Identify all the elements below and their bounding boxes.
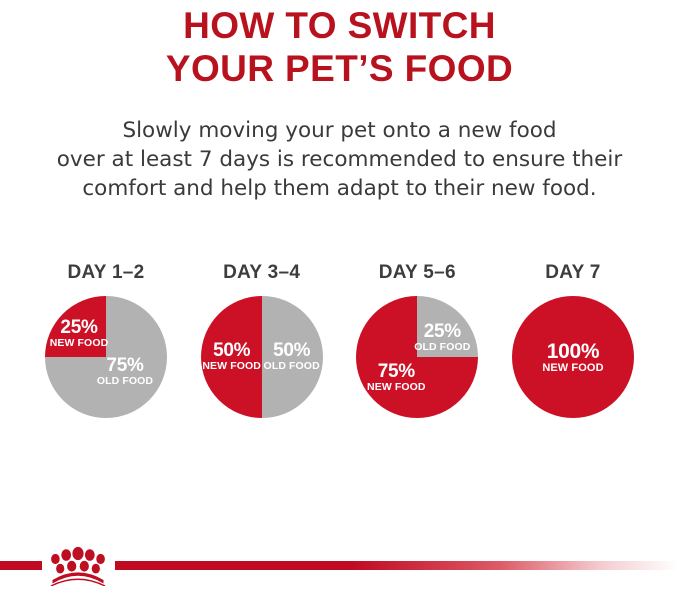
- chart-column-3: DAY 5–625%OLD FOOD75%NEW FOOD: [347, 262, 487, 432]
- intro-line-1: Slowly moving your pet onto a new food: [0, 116, 679, 145]
- page-title-line-2: YOUR PET’S FOOD: [0, 47, 679, 90]
- page-title-line-1: HOW TO SWITCH: [0, 4, 679, 47]
- pie-slice-new-food: [512, 296, 634, 418]
- pie-slice-old-food: [262, 296, 323, 418]
- chart-column-1: DAY 1–225%NEW FOOD75%OLD FOOD: [36, 262, 176, 432]
- pie-slice-new-food: [45, 296, 106, 357]
- chart-column-4: DAY 7100%NEW FOOD: [503, 262, 643, 432]
- footer: [0, 540, 679, 594]
- pie-slice-old-food: [417, 296, 478, 357]
- day-label: DAY 1–2: [67, 262, 144, 284]
- day-label: DAY 5–6: [379, 262, 456, 284]
- chart-column-2: DAY 3–450%NEW FOOD50%OLD FOOD: [192, 262, 332, 432]
- page-title: HOW TO SWITCH YOUR PET’S FOOD: [0, 4, 679, 90]
- day-label: DAY 7: [545, 262, 600, 284]
- day-label: DAY 3–4: [223, 262, 300, 284]
- royal-canin-crown-logo: [44, 542, 112, 586]
- transition-schedule-charts: DAY 1–225%NEW FOOD75%OLD FOODDAY 3–450%N…: [0, 262, 679, 432]
- intro-line-2: over at least 7 days is recommended to e…: [0, 145, 679, 174]
- pie-chart: 25%NEW FOOD75%OLD FOOD: [43, 294, 169, 420]
- pie-chart: 100%NEW FOOD: [510, 294, 636, 420]
- footer-rule-right: [115, 561, 679, 570]
- intro-line-3: comfort and help them adapt to their new…: [0, 174, 679, 203]
- intro-paragraph: Slowly moving your pet onto a new food o…: [0, 116, 679, 203]
- pie-slice-new-food: [201, 296, 262, 418]
- footer-rule-left: [0, 561, 42, 570]
- pie-chart: 50%NEW FOOD50%OLD FOOD: [199, 294, 325, 420]
- pie-chart: 25%OLD FOOD75%NEW FOOD: [354, 294, 480, 420]
